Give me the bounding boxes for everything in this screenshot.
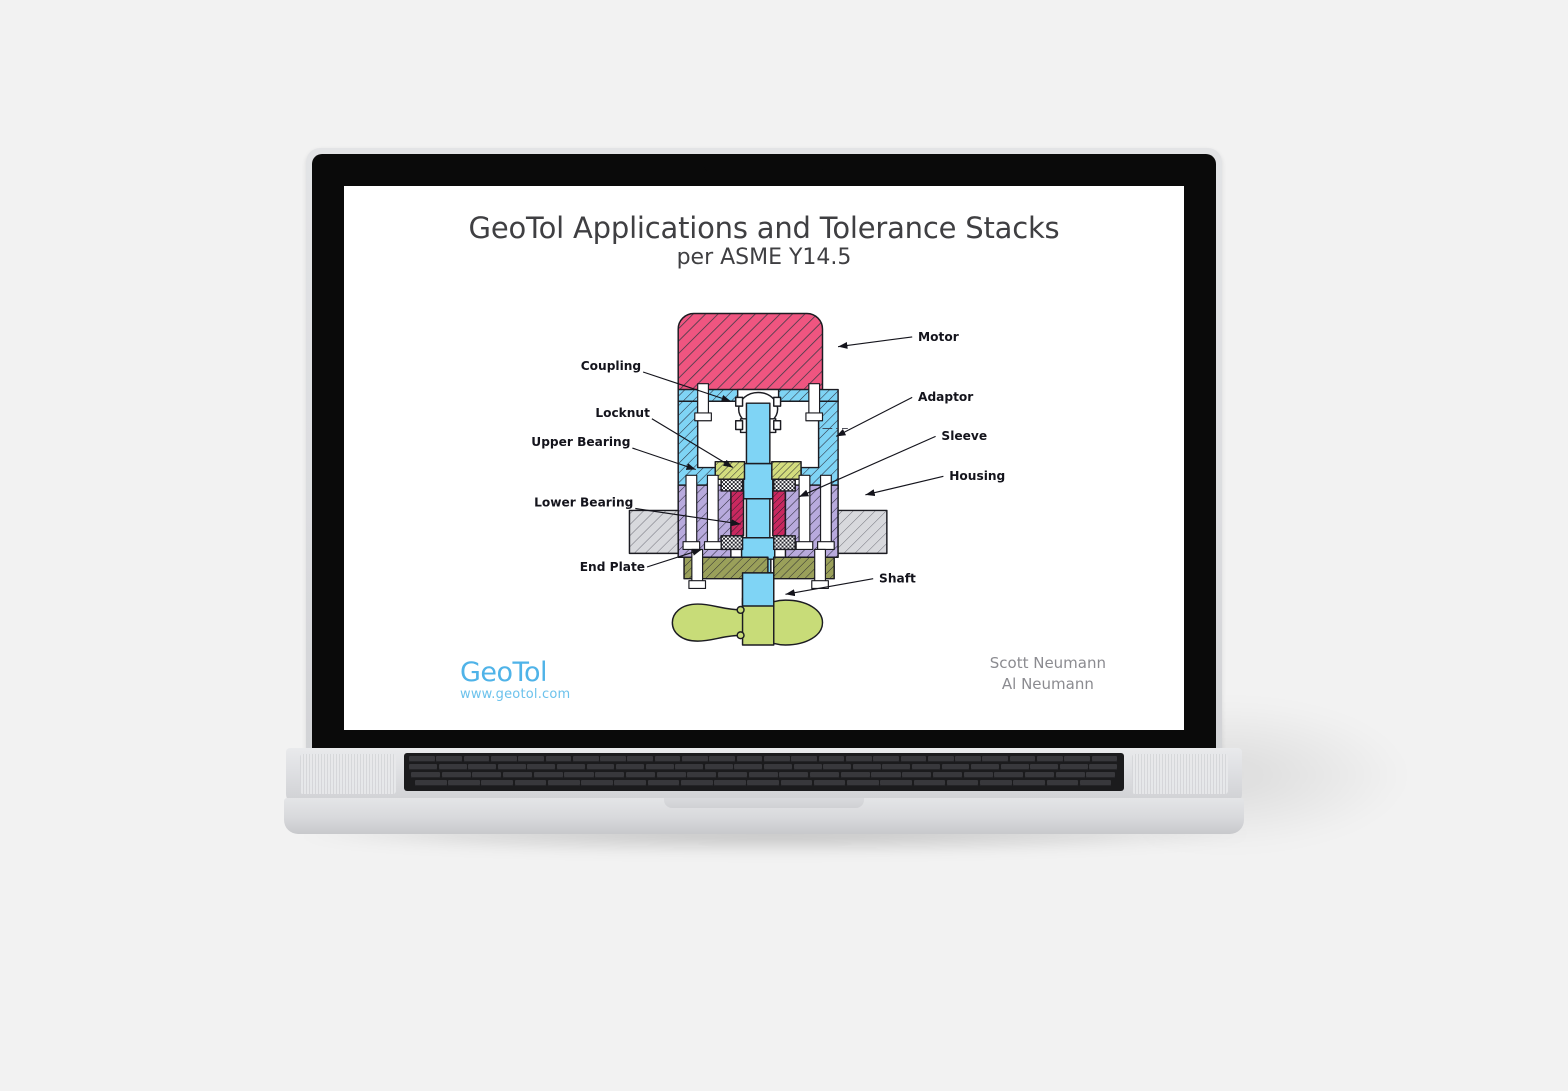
keyboard-key (955, 756, 981, 762)
scene: GeoTol Applications and Tolerance Stacks… (0, 0, 1568, 1091)
keyboard-key (1089, 764, 1117, 770)
keyboard-key (481, 780, 513, 786)
keyboard-key (648, 780, 680, 786)
keyboard-key (814, 780, 846, 786)
keyboard-key (581, 780, 613, 786)
keyboard-key (472, 772, 501, 778)
keyboard-row (407, 764, 1121, 771)
authors-block: Scott Neumann Al Neumann (990, 653, 1106, 697)
keyboard-key (498, 764, 526, 770)
keyboard-key (595, 772, 624, 778)
laptop-keyboard (404, 753, 1124, 791)
keyboard-key (1086, 772, 1115, 778)
keyboard-key (1013, 780, 1045, 786)
keyboard-key (464, 756, 490, 762)
keyboard-key (1001, 764, 1029, 770)
keyboard-key (548, 780, 580, 786)
keyboard-key (646, 764, 674, 770)
presentation-slide: GeoTol Applications and Tolerance Stacks… (344, 186, 1184, 730)
keyboard-key (681, 780, 713, 786)
keyboard-key (534, 772, 563, 778)
keyboard-key (914, 780, 946, 786)
label-motor: Motor (918, 330, 959, 344)
keyboard-key (527, 764, 555, 770)
geotol-logo: GeoTol www.geotol.com (460, 659, 570, 702)
keyboard-key (791, 756, 817, 762)
keyboard-key (1047, 780, 1079, 786)
keyboard-key (853, 764, 881, 770)
label-lower-bearing: Lower Bearing (534, 496, 633, 510)
keyboard-key (1010, 756, 1036, 762)
page-title: GeoTol Applications and Tolerance Stacks (344, 212, 1184, 244)
keyboard-key (718, 772, 747, 778)
laptop-screen: GeoTol Applications and Tolerance Stacks… (344, 186, 1184, 730)
keyboard-key (882, 764, 910, 770)
keyboard-key (734, 764, 762, 770)
keyboard-key (982, 756, 1008, 762)
keyboard-key (819, 756, 845, 762)
author-name-2: Al Neumann (990, 674, 1106, 696)
keyboard-key (616, 764, 644, 770)
keyboard-key (600, 756, 626, 762)
keyboard-key (682, 756, 708, 762)
keyboard-key (764, 756, 790, 762)
keyboard-key (614, 780, 646, 786)
keyboard-key (1060, 764, 1088, 770)
label-shaft: Shaft (879, 572, 916, 586)
part-motor (678, 314, 822, 390)
keyboard-key (1064, 756, 1090, 762)
keyboard-key (675, 764, 703, 770)
keyboard-row (407, 772, 1121, 779)
keyboard-key (737, 756, 763, 762)
keyboard-key (439, 764, 467, 770)
label-sleeve: Sleeve (941, 429, 987, 443)
keyboard-key (942, 764, 970, 770)
keyboard-key (655, 756, 681, 762)
keyboard-key (928, 756, 954, 762)
keyboard-key (901, 756, 927, 762)
keyboard-key (846, 756, 872, 762)
keyboard-key (1092, 756, 1118, 762)
label-adaptor: Adaptor (918, 390, 973, 404)
assembly-cross-section-svg: Coupling Locknut Upper Bearing Lower Bea… (344, 294, 1184, 684)
keyboard-key (873, 756, 899, 762)
label-housing: Housing (949, 469, 1005, 483)
author-name-1: Scott Neumann (990, 653, 1106, 675)
keyboard-key (880, 780, 912, 786)
screen-bezel: GeoTol Applications and Tolerance Stacks… (312, 154, 1216, 754)
keyboard-key (749, 772, 778, 778)
keyboard-key (847, 780, 879, 786)
keyboard-key (573, 756, 599, 762)
keyboard-key (626, 772, 655, 778)
keyboard-key (971, 764, 999, 770)
keyboard-key (546, 756, 572, 762)
keyboard-key (823, 764, 851, 770)
keyboard-key (1080, 780, 1112, 786)
slide-title-block: GeoTol Applications and Tolerance Stacks… (344, 212, 1184, 272)
keyboard-key (794, 764, 822, 770)
laptop-lid: GeoTol Applications and Tolerance Stacks… (306, 148, 1222, 754)
keyboard-key (468, 764, 496, 770)
keyboard-row (407, 756, 1121, 763)
keyboard-key (994, 772, 1023, 778)
keyboard-key (841, 772, 870, 778)
keyboard-key (1037, 756, 1063, 762)
keyboard-key (411, 772, 440, 778)
label-coupling: Coupling (581, 359, 641, 373)
label-locknut: Locknut (595, 406, 650, 420)
logo-wordmark: GeoTol (460, 659, 570, 686)
keyboard-key (515, 780, 547, 786)
keyboard-key (627, 756, 653, 762)
keyboard-key (587, 764, 615, 770)
page-subtitle: per ASME Y14.5 (344, 245, 1184, 271)
keyboard-key (687, 772, 716, 778)
assembly-figure: Coupling Locknut Upper Bearing Lower Bea… (344, 294, 1184, 684)
keyboard-key (781, 780, 813, 786)
keyboard-key (491, 756, 517, 762)
keyboard-row (407, 780, 1121, 787)
keyboard-key (448, 780, 480, 786)
laptop-front-notch (664, 798, 864, 808)
keyboard-key (980, 780, 1012, 786)
webcam-notch (704, 160, 824, 172)
keyboard-key (947, 780, 979, 786)
keyboard-key (810, 772, 839, 778)
keyboard-key (415, 780, 447, 786)
keyboard-key (709, 756, 735, 762)
keyboard-key (705, 764, 733, 770)
keyboard-key (436, 756, 462, 762)
speaker-grille-right (1132, 754, 1228, 794)
keyboard-key (964, 772, 993, 778)
keyboard-key (518, 756, 544, 762)
keyboard-key (764, 764, 792, 770)
keyboard-key (564, 772, 593, 778)
keyboard-key (933, 772, 962, 778)
keyboard-key (657, 772, 686, 778)
keyboard-key (409, 756, 435, 762)
keyboard-key (714, 780, 746, 786)
label-end-plate: End Plate (580, 560, 645, 574)
keyboard-key (557, 764, 585, 770)
keyboard-key (902, 772, 931, 778)
keyboard-key (1056, 772, 1085, 778)
keyboard-key (1025, 772, 1054, 778)
laptop-device: GeoTol Applications and Tolerance Stacks… (286, 148, 1242, 838)
keyboard-key (442, 772, 471, 778)
keyboard-key (503, 772, 532, 778)
keyboard-key (779, 772, 808, 778)
laptop-hinge-deck (286, 748, 1242, 804)
keyboard-key (871, 772, 900, 778)
keyboard-key (409, 764, 437, 770)
keyboard-key (1030, 764, 1058, 770)
label-upper-bearing: Upper Bearing (531, 435, 630, 449)
keyboard-key (912, 764, 940, 770)
logo-url: www.geotol.com (460, 687, 570, 702)
keyboard-key (747, 780, 779, 786)
speaker-grille-left (300, 754, 396, 794)
